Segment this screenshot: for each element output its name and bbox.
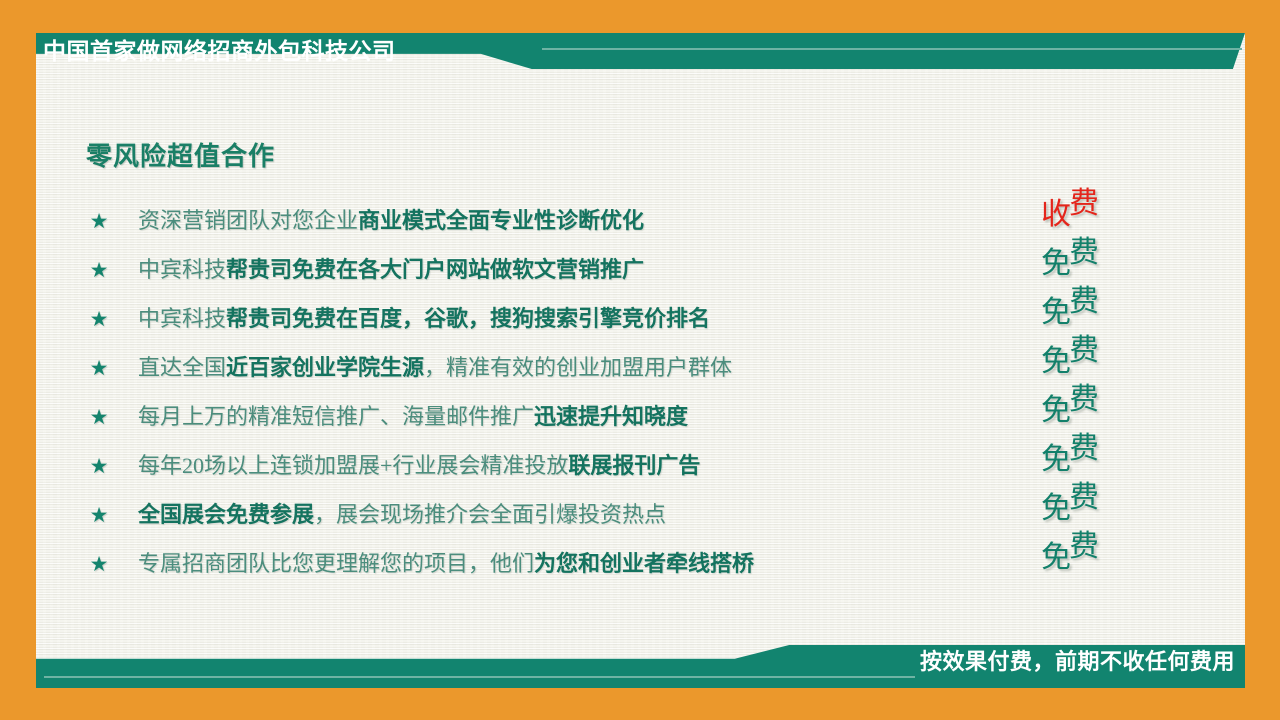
- price-badge-char-first: 免: [1041, 439, 1069, 481]
- benefit-text: 直达全国近百家创业学院生源，精准有效的创业加盟用户群体: [138, 351, 732, 385]
- benefit-text-segment: ，精准有效的创业加盟用户群体: [424, 355, 732, 380]
- price-badge-char-first: 免: [1041, 488, 1069, 530]
- price-badge-char-first: 收: [1041, 194, 1069, 236]
- header-title: 中国首家做网络招商外包科技公司: [43, 36, 513, 68]
- benefit-row: ★中宾科技帮贵司免费在百度，谷歌，搜狗搜索引擎竞价排名免费: [86, 298, 1176, 347]
- price-badge-char-first: 免: [1041, 243, 1069, 285]
- star-bullet-icon: ★: [86, 257, 112, 283]
- price-badge-free: 免费: [1041, 488, 1097, 530]
- price-badge-char-second: 费: [1069, 232, 1097, 274]
- star-bullet-icon: ★: [86, 404, 112, 430]
- price-badge-char-first: 免: [1041, 341, 1069, 383]
- price-badge-char-first: 免: [1041, 390, 1069, 432]
- star-bullet-icon: ★: [86, 453, 112, 479]
- benefit-text-segment: 为您和创业者牵线搭桥: [534, 551, 754, 576]
- presentation-slide: 中国首家做网络招商外包科技公司 零风险超值合作 ★资深营销团队对您企业商业模式全…: [0, 0, 1280, 720]
- price-badge-char-second: 费: [1069, 428, 1097, 470]
- price-badge-free: 免费: [1041, 292, 1097, 334]
- price-badge-free: 免费: [1041, 390, 1097, 432]
- footer-accent-rule: [44, 676, 915, 678]
- price-badge-free: 免费: [1041, 341, 1097, 383]
- benefit-text-segment: 每月上万的精准短信推广、海量邮件推广: [138, 404, 534, 429]
- benefit-text-segment: 帮贵司免费在各大门户网站做软文营销推广: [226, 257, 644, 282]
- benefit-row: ★直达全国近百家创业学院生源，精准有效的创业加盟用户群体免费: [86, 347, 1176, 396]
- footer-tagline: 按效果付费，前期不收任何费用: [920, 646, 1235, 680]
- benefit-text: 全国展会免费参展，展会现场推介会全面引爆投资热点: [138, 498, 666, 532]
- benefit-text: 每年20场以上连锁加盟展+行业展会精准投放联展报刊广告: [138, 449, 700, 483]
- price-badge-char-first: 免: [1041, 537, 1069, 579]
- benefit-row: ★每年20场以上连锁加盟展+行业展会精准投放联展报刊广告免费: [86, 445, 1176, 494]
- benefit-row: ★资深营销团队对您企业商业模式全面专业性诊断优化收费: [86, 200, 1176, 249]
- benefit-text: 中宾科技帮贵司免费在百度，谷歌，搜狗搜索引擎竞价排名: [138, 302, 710, 336]
- price-badge-paid: 收费: [1041, 194, 1097, 236]
- benefit-row: ★全国展会免费参展，展会现场推介会全面引爆投资热点免费: [86, 494, 1176, 543]
- section-title: 零风险超值合作: [86, 136, 275, 173]
- price-badge-char-second: 费: [1069, 526, 1097, 568]
- price-badge-free: 免费: [1041, 537, 1097, 579]
- benefit-text-segment: 迅速提升知晓度: [534, 404, 688, 429]
- benefit-text-segment: 商业模式全面专业性诊断优化: [358, 208, 644, 233]
- header-accent-rule: [542, 48, 1242, 50]
- benefit-text: 中宾科技帮贵司免费在各大门户网站做软文营销推广: [138, 253, 644, 287]
- benefit-text-segment: 联展报刊广告: [568, 453, 700, 478]
- price-badge-char-second: 费: [1069, 477, 1097, 519]
- benefit-text-segment: 帮贵司免费在百度，谷歌，搜狗搜索引擎竞价排名: [226, 306, 710, 331]
- benefit-text-segment: 直达全国: [138, 355, 226, 380]
- benefit-text-segment: 中宾科技: [138, 257, 226, 282]
- benefit-row: ★专属招商团队比您更理解您的项目，他们为您和创业者牵线搭桥免费: [86, 543, 1176, 592]
- benefit-row: ★每月上万的精准短信推广、海量邮件推广迅速提升知晓度免费: [86, 396, 1176, 445]
- star-bullet-icon: ★: [86, 551, 112, 577]
- benefit-text-segment: 近百家创业学院生源: [226, 355, 424, 380]
- price-badge-char-second: 费: [1069, 379, 1097, 421]
- benefit-text-segment: 资深营销团队对您企业: [138, 208, 358, 233]
- star-bullet-icon: ★: [86, 355, 112, 381]
- star-bullet-icon: ★: [86, 306, 112, 332]
- price-badge-free: 免费: [1041, 243, 1097, 285]
- benefit-text-segment: 全国展会免费参展: [138, 502, 314, 527]
- price-badge-char-second: 费: [1069, 330, 1097, 372]
- benefits-list: ★资深营销团队对您企业商业模式全面专业性诊断优化收费★中宾科技帮贵司免费在各大门…: [86, 200, 1176, 592]
- price-badge-char-second: 费: [1069, 183, 1097, 225]
- benefit-text-segment: 每年20场以上连锁加盟展+行业展会精准投放: [138, 453, 568, 478]
- benefit-text: 资深营销团队对您企业商业模式全面专业性诊断优化: [138, 204, 644, 238]
- benefit-row: ★中宾科技帮贵司免费在各大门户网站做软文营销推广免费: [86, 249, 1176, 298]
- price-badge-char-second: 费: [1069, 281, 1097, 323]
- benefit-text-segment: 专属招商团队比您更理解您的项目，他们: [138, 551, 534, 576]
- price-badge-free: 免费: [1041, 439, 1097, 481]
- star-bullet-icon: ★: [86, 502, 112, 528]
- benefit-text-segment: ，展会现场推介会全面引爆投资热点: [314, 502, 666, 527]
- benefit-text-segment: 中宾科技: [138, 306, 226, 331]
- star-bullet-icon: ★: [86, 208, 112, 234]
- benefit-text: 专属招商团队比您更理解您的项目，他们为您和创业者牵线搭桥: [138, 547, 754, 581]
- price-badge-char-first: 免: [1041, 292, 1069, 334]
- benefit-text: 每月上万的精准短信推广、海量邮件推广迅速提升知晓度: [138, 400, 688, 434]
